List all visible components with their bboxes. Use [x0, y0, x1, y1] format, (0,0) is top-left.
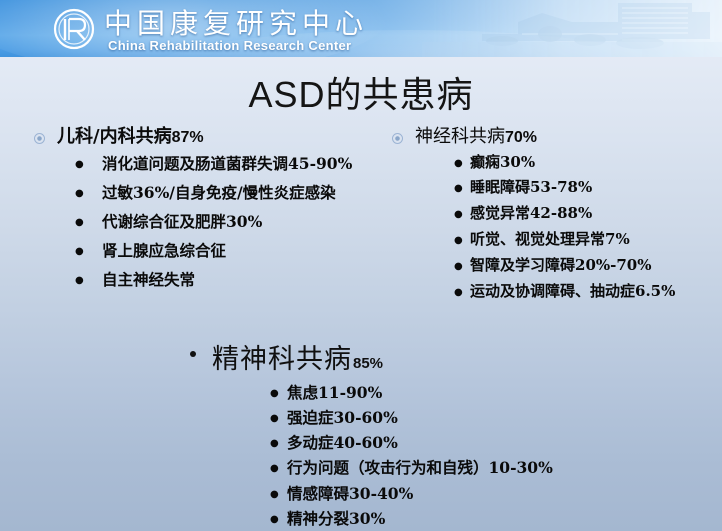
list-item: 自主神经失常: [72, 269, 374, 291]
group-psychiatry: 精神科共病 85% 焦虑11-90% 强迫症30-60% 多动症40-60% 行…: [190, 337, 710, 531]
subitem-list: 焦虑11-90% 强迫症30-60% 多动症40-60% 行为问题（攻击行为和自…: [270, 383, 710, 531]
title-cn: 的共患病: [326, 75, 474, 116]
list-item: 运动及协调障碍、抽动症6.5%: [454, 282, 712, 302]
filled-dot-bullet-icon: [190, 351, 196, 357]
group-percent: 85%: [353, 355, 383, 372]
ring-dot-bullet-icon: [392, 133, 403, 144]
list-item: 精神分裂30%: [270, 509, 710, 529]
list-item: 肾上腺应急综合征: [72, 240, 374, 262]
subitem-list: 消化道问题及肠道菌群失调45-90% 过敏36%/自身免疫/慢性炎症感染 代谢综…: [72, 153, 374, 291]
group-title-text: 儿科/内科共病: [57, 126, 172, 147]
list-item: 听觉、视觉处理异常7%: [454, 230, 712, 250]
ring-dot-bullet-icon: [34, 133, 45, 144]
org-name-cn: 中国康复研究中心: [104, 2, 368, 42]
list-item: 智障及学习障碍20%-70%: [454, 256, 712, 276]
group-header: 精神科共病 85%: [190, 337, 710, 376]
list-item: 焦虑11-90%: [270, 383, 710, 403]
list-item: 行为问题（攻击行为和自残）10-30%: [270, 458, 710, 478]
group-title-text: 神经科共病: [415, 126, 505, 147]
list-item: 感觉异常42-88%: [454, 204, 712, 224]
group-percent: 70%: [505, 129, 537, 146]
title-latin: ASD: [248, 74, 325, 115]
group-neurology: 神经科共病70% 癫痫30% 睡眠障碍53-78% 感觉异常42-88% 听觉、…: [392, 126, 712, 308]
slide-canvas: 中国康复研究中心 China Rehabilitation Research C…: [0, 0, 722, 531]
group-title: 儿科/内科共病87%: [57, 126, 204, 149]
group-title: 神经科共病70%: [415, 126, 537, 149]
list-item: 强迫症30-60%: [270, 408, 710, 428]
hospital-building-photo: [422, 0, 722, 57]
list-item: 代谢综合征及肥胖30%: [72, 211, 374, 233]
group-percent: 87%: [172, 129, 204, 146]
list-item: 癫痫30%: [454, 153, 712, 173]
group-pediatrics-internal: 儿科/内科共病87% 消化道问题及肠道菌群失调45-90% 过敏36%/自身免疫…: [34, 126, 374, 298]
crrc-circular-r-logo-icon: [52, 7, 96, 51]
list-item: 消化道问题及肠道菌群失调45-90%: [72, 153, 374, 175]
group-title-text: 精神科共病: [212, 337, 352, 376]
org-name-en: China Rehabilitation Research Center: [108, 38, 351, 53]
list-item: 过敏36%/自身免疫/慢性炎症感染: [72, 182, 374, 204]
header-banner: 中国康复研究中心 China Rehabilitation Research C…: [0, 0, 722, 57]
subitem-list: 癫痫30% 睡眠障碍53-78% 感觉异常42-88% 听觉、视觉处理异常7% …: [454, 153, 712, 303]
group-header: 儿科/内科共病87%: [34, 126, 374, 149]
list-item: 睡眠障碍53-78%: [454, 178, 712, 198]
page-title: ASD的共患病: [0, 66, 722, 118]
group-header: 神经科共病70%: [392, 126, 712, 149]
list-item: 情感障碍30-40%: [270, 484, 710, 504]
list-item: 多动症40-60%: [270, 433, 710, 453]
